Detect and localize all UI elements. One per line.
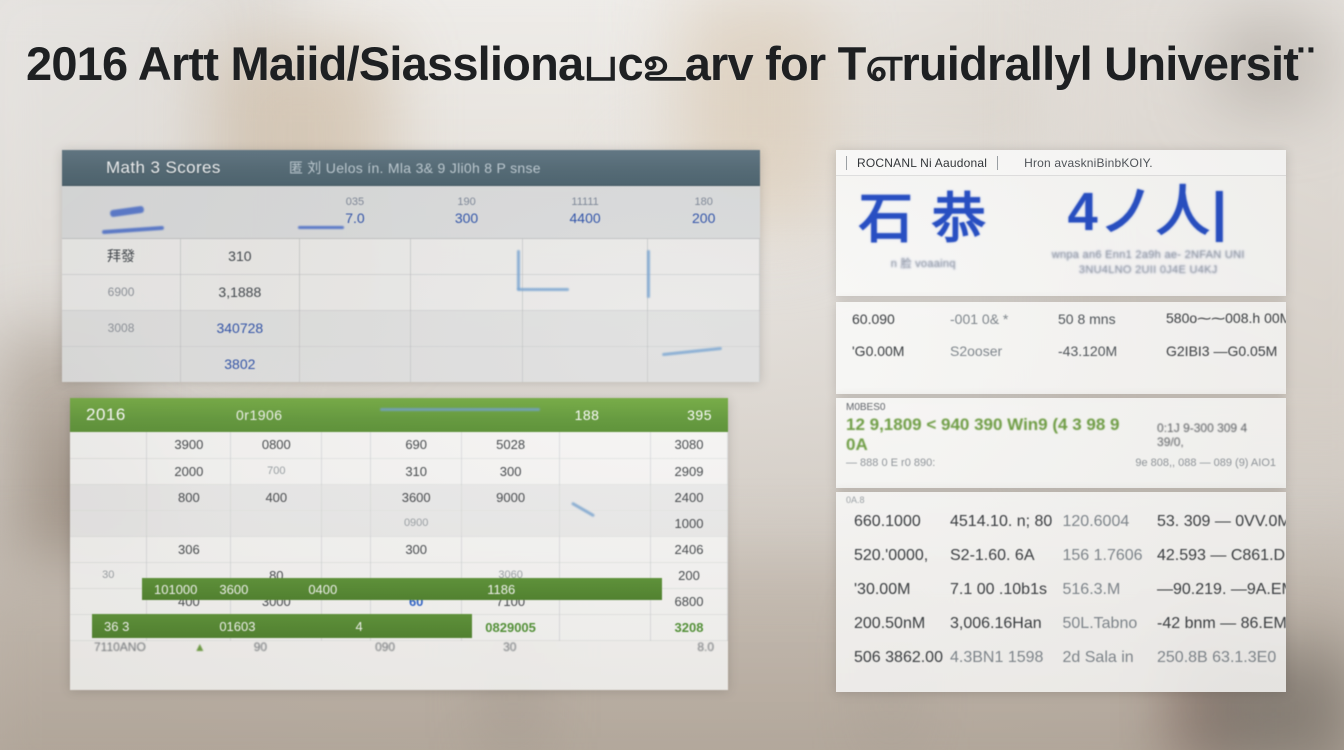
table-row: 3008 340728	[62, 310, 760, 346]
metric-cell: -43.120M	[1052, 335, 1160, 367]
highlight-card-sub-right: 9e 808,, 088 — 089 (9) AIO1	[1125, 457, 1286, 469]
green-hl2-c2: 4	[355, 619, 362, 634]
math-header-val-2: 7.0	[345, 210, 364, 226]
math-cell	[522, 310, 648, 346]
math-cell	[648, 274, 760, 310]
green-hl2-c0: 36 3	[104, 619, 129, 634]
table-row: 6900 3,1888	[62, 274, 760, 310]
green-cell	[462, 510, 560, 536]
metrics-card-upper: 60.090 -001 0& * 50 8 mns 580o⁓⁓008.h 00…	[836, 302, 1286, 394]
green-cell: 3080	[650, 432, 727, 458]
math-cell	[299, 238, 411, 274]
math-cell	[648, 310, 760, 346]
math-cell: 3008	[62, 310, 181, 346]
green-cell: 9000	[462, 484, 560, 510]
metric-cell: 250.8B 63.1.3E0	[1151, 641, 1286, 675]
math-cell: 310	[181, 238, 300, 274]
highlight-card-right-text: 0:1J 9-300 309 4 39/0,	[1157, 421, 1276, 449]
green-highlight-row-2[interactable]: 36 3 01603 4	[92, 614, 472, 638]
green-summary-table: 3900 0800 690 5028 3080 2000 700 310 300…	[70, 432, 728, 641]
screenshot-root: 2016 Artt Maiid/Siasslionaபcஉarv for Tஎr…	[0, 0, 1344, 750]
green-cell	[560, 458, 651, 484]
metric-cell: 53. 309 — 0VV.0M	[1151, 505, 1286, 539]
math-cell	[411, 274, 523, 310]
highlight-card-main-line: 12 9,1809 < 940 390 Win9 (4 3 98 9 0A 0:…	[836, 413, 1286, 457]
metric-cell: 660.1000	[836, 505, 944, 539]
ink-stroke-icon	[647, 250, 650, 298]
blue-card-header-left: ROCNANL Ni Aaudonal	[857, 156, 987, 170]
green-cell: 3900	[147, 432, 231, 458]
green-cell	[70, 484, 147, 510]
green-cell	[231, 510, 322, 536]
table-row: 拜發 310	[62, 238, 760, 274]
green-cell	[560, 536, 651, 562]
green-cell	[322, 432, 371, 458]
green-table-metric-1: 188	[532, 407, 642, 423]
blue-glyph-right-group: 4ノ人| wnpa an6 Enn1 2a9h ae‑ 2NFAN UNI 3N…	[1033, 167, 1263, 277]
math-cell: 6900	[62, 274, 181, 310]
green-footer-cell: 90	[254, 640, 267, 654]
green-cell: 1000	[650, 510, 727, 536]
metric-cell: 7.1 00 .10b1s	[944, 573, 1057, 607]
math-header-cell-4: 11111 4400	[522, 186, 648, 238]
highlight-card-label: M0BES0	[836, 398, 1286, 413]
metric-cell: 4514.10. n; 80	[944, 505, 1057, 539]
math-header-sub-4: 11111	[530, 196, 640, 210]
blue-glyph-left: 石 恭	[859, 174, 988, 253]
green-footer-cell: 090	[375, 640, 395, 654]
green-cell: 300	[371, 536, 462, 562]
green-table-header-bar: 2016 0r1906 188 395	[70, 398, 728, 432]
table-row: 200.50nM 3,006.16Han 50L.Tabno -42 bnm —…	[836, 607, 1286, 641]
green-cell: 2400	[650, 484, 727, 510]
metric-cell: 3,006.16Han	[944, 607, 1057, 641]
green-summary-table-panel: 2016 0r1906 188 395 3900 0800 690 5028 3…	[70, 398, 728, 690]
math-cell	[522, 346, 648, 382]
green-cell	[147, 510, 231, 536]
green-cell	[70, 510, 147, 536]
green-cell: 5028	[462, 432, 560, 458]
green-table-footer-row: 7110ANO ▲ 90 090 30 8.0	[94, 640, 714, 654]
metrics-table-upper: 60.090 -001 0& * 50 8 mns 580o⁓⁓008.h 00…	[836, 302, 1286, 367]
table-row: 660.1000 4514.10. n; 80 120.6004 53. 309…	[836, 505, 1286, 539]
ink-stroke-icon	[517, 250, 520, 290]
green-table-year: 2016	[86, 405, 236, 425]
green-hl2-c1: 01603	[219, 619, 255, 634]
green-footer-cell: 30	[503, 640, 516, 654]
metric-cell: 200.50nM	[836, 607, 944, 641]
green-cell: 2909	[650, 458, 727, 484]
metric-cell: 516.3.M	[1057, 573, 1152, 607]
green-cell	[322, 510, 371, 536]
math-header-val-5: 200	[692, 210, 715, 226]
math-scores-header-row: 035 7.0 190 300 11111 4400 180 200	[62, 186, 760, 238]
green-cell	[560, 614, 651, 640]
table-row: 3900 0800 690 5028 3080	[70, 432, 728, 458]
metric-cell: 4.3BN1 1598	[944, 641, 1057, 675]
math-header-cell-5: 180 200	[648, 186, 760, 238]
green-cell: 300	[462, 458, 560, 484]
divider-icon	[846, 156, 847, 170]
green-cell: 310	[371, 458, 462, 484]
green-cell: 700	[231, 458, 322, 484]
table-row: '30.00M 7.1 00 .10b1s 516.3.M —90.219. —…	[836, 573, 1286, 607]
green-footer-cell: 8.0	[697, 640, 714, 654]
math-cell	[411, 310, 523, 346]
math-cell	[62, 346, 181, 382]
page-title: 2016 Artt Maiid/Siasslionaபcஉarv for Tஎr…	[26, 36, 1326, 98]
math-cell	[522, 238, 648, 274]
ink-stroke-icon	[298, 226, 344, 229]
math-cell	[299, 346, 411, 382]
metric-cell: 520.'0000,	[836, 539, 944, 573]
green-cell	[462, 536, 560, 562]
green-cell: 690	[371, 432, 462, 458]
green-cell	[322, 484, 371, 510]
math-header-sub-3: 190	[419, 196, 515, 210]
math-header-val-4: 4400	[570, 210, 601, 226]
metric-cell: 156 1.7606	[1057, 539, 1152, 573]
green-cell: 30	[70, 562, 147, 588]
metric-cell: -42 bnm — 86.EM	[1151, 607, 1286, 641]
metric-cell: G2IBI3 —G0.05M	[1160, 335, 1286, 367]
math-header-val-3: 300	[455, 210, 478, 226]
green-hl1-c0: 101000	[154, 582, 197, 597]
math-cell	[648, 238, 760, 274]
metric-cell: '30.00M	[836, 573, 944, 607]
metrics-table-lower: 660.1000 4514.10. n; 80 120.6004 53. 309…	[836, 505, 1286, 675]
green-table-metric-2: 395	[642, 407, 712, 423]
green-highlight-row-1[interactable]: 101000 3600 0400 1186	[142, 578, 662, 600]
green-cell	[70, 536, 147, 562]
table-row: 800 400 3600 9000 2400	[70, 484, 728, 510]
math-cell	[411, 346, 523, 382]
highlight-card-main-text: 12 9,1809 < 940 390 Win9 (4 3 98 9 0A	[846, 415, 1143, 455]
metric-cell: -001 0& *	[944, 302, 1052, 335]
metrics-lower-corner-label: 0A.8	[836, 492, 1286, 505]
green-hl1-c3: 1186	[487, 582, 515, 597]
math-cell	[411, 238, 523, 274]
math-scores-table-panel: Math 3 Scores 匿 刘 Uelos ín. Mla 3& 9 Jli…	[62, 150, 760, 382]
math-scores-table: 035 7.0 190 300 11111 4400 180 200 拜發	[62, 186, 760, 382]
metric-cell: 506 3862.00M	[836, 641, 944, 675]
metric-cell: S2ooser	[944, 335, 1052, 367]
math-header-cell-2: 035 7.0	[299, 186, 411, 238]
metric-cell: 60.090	[836, 302, 944, 335]
metrics-card-lower: 0A.8 660.1000 4514.10. n; 80 120.6004 53…	[836, 492, 1286, 692]
math-cell	[522, 274, 648, 310]
math-cell: 拜發	[62, 238, 181, 274]
green-cell	[70, 432, 147, 458]
table-row: 3802	[62, 346, 760, 382]
blue-glyph-left-group: 石 恭 n 脸 voaainq	[859, 174, 988, 271]
green-cell	[231, 536, 322, 562]
math-cell: 3,1888	[181, 274, 300, 310]
green-cell: 3600	[371, 484, 462, 510]
green-cell: 0829005	[462, 614, 560, 640]
table-row: 520.'0000, S2-1.60. 6A 156 1.7606 42.593…	[836, 539, 1286, 573]
green-cell	[70, 458, 147, 484]
blue-glyph-card: ROCNANL Ni Aaudonal Hron avaskniBinbKOIY…	[836, 150, 1286, 296]
green-cell: 800	[147, 484, 231, 510]
table-row: 'G0.00M S2ooser -43.120M G2IBI3 —G0.05M	[836, 335, 1286, 367]
green-cell: 306	[147, 536, 231, 562]
metric-cell: 42.593 — C861.DM	[1151, 539, 1286, 573]
green-cell	[560, 432, 651, 458]
math-header-cell-3: 190 300	[411, 186, 523, 238]
highlight-card-sub-left: — 888 0 E r0 890:	[836, 457, 945, 469]
green-hl1-c1: 3600	[219, 582, 248, 597]
metric-cell: 2d Sala in	[1057, 641, 1152, 675]
green-cell: 200	[650, 562, 727, 588]
math-cell: 340728	[181, 310, 300, 346]
table-row: 306 300 2406	[70, 536, 728, 562]
metric-cell: 'G0.00M	[836, 335, 944, 367]
highlight-card: M0BES0 12 9,1809 < 940 390 Win9 (4 3 98 …	[836, 398, 1286, 488]
green-cell	[560, 510, 651, 536]
green-cell	[70, 588, 147, 614]
math-scores-title: Math 3 Scores	[106, 158, 221, 178]
math-scores-header-bar: Math 3 Scores 匿 刘 Uelos ín. Mla 3& 9 Jli…	[62, 150, 760, 186]
metric-cell: 50 8 mns	[1052, 302, 1160, 335]
metric-cell: —90.219. —9A.EM	[1151, 573, 1286, 607]
green-cell: 0900	[371, 510, 462, 536]
math-cell: 3802	[181, 346, 300, 382]
blue-glyph-left-caption: n 脸 voaainq	[891, 255, 956, 271]
green-footer-cell: 7110ANO	[94, 640, 146, 654]
table-row: 506 3862.00M 4.3BN1 1598 2d Sala in 250.…	[836, 641, 1286, 675]
metric-cell: 580o⁓⁓008.h 00M	[1160, 302, 1286, 335]
divider-icon	[997, 156, 998, 170]
green-cell: 2000	[147, 458, 231, 484]
green-cell: 3208	[650, 614, 727, 640]
math-cell	[299, 310, 411, 346]
table-row: 0900 1000	[70, 510, 728, 536]
table-row: 60.090 -001 0& * 50 8 mns 580o⁓⁓008.h 00…	[836, 302, 1286, 335]
math-header-sub-2: 035	[307, 196, 403, 210]
blue-glyph-right: 4ノ人|	[1068, 167, 1229, 246]
math-cell	[299, 274, 411, 310]
green-cell: 2406	[650, 536, 727, 562]
blue-glyph-row: 石 恭 n 脸 voaainq 4ノ人| wnpa an6 Enn1 2a9h …	[836, 176, 1286, 268]
metric-cell: 120.6004	[1057, 505, 1152, 539]
green-cell: 400	[231, 484, 322, 510]
green-cell	[322, 458, 371, 484]
metric-cell: 50L.Tabno	[1057, 607, 1152, 641]
metric-cell: S2-1.60. 6A	[944, 539, 1057, 573]
math-scores-subtitle: 匿 刘 Uelos ín. Mla 3& 9 Jli0h 8 P snse	[289, 158, 541, 178]
green-cell: 6800	[650, 588, 727, 614]
ink-stroke-icon	[517, 288, 569, 291]
ink-stroke-icon	[380, 408, 540, 411]
math-header-sub-5: 180	[656, 196, 752, 210]
up-arrow-icon: ▲	[194, 640, 206, 654]
math-header-cell-1	[181, 186, 300, 238]
green-cell: 0800	[231, 432, 322, 458]
green-cell	[322, 536, 371, 562]
green-hl1-c2: 0400	[308, 582, 337, 597]
table-row: 2000 700 310 300 2909	[70, 458, 728, 484]
blue-glyph-right-caption: wnpa an6 Enn1 2a9h ae‑ 2NFAN UNI 3NU4LNO…	[1033, 248, 1263, 277]
